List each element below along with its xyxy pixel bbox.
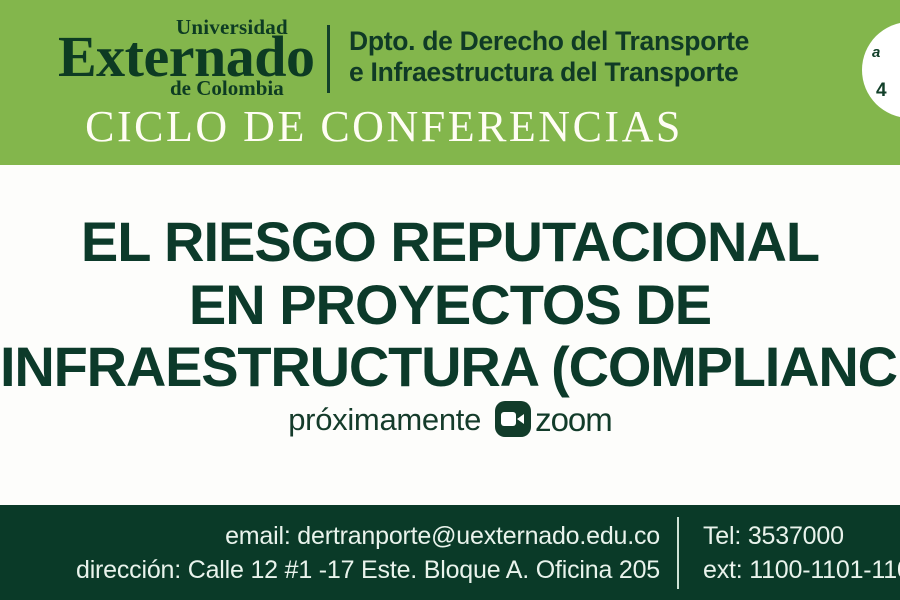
department-line-2: e Infraestructura del Transporte xyxy=(349,57,869,88)
contact-left-block: email: dertranporte@uexternado.edu.co di… xyxy=(0,520,660,588)
availability-label: próximamente xyxy=(288,404,481,435)
department-name: Dpto. de Derecho del Transporte e Infrae… xyxy=(349,26,869,88)
availability-row: próximamente zoom xyxy=(0,401,900,437)
title-line-1: EL RIESGO REPUTACIONAL xyxy=(0,211,900,274)
contact-right-block: Tel: 3537000 ext: 1100-1101-1102 xyxy=(703,520,900,588)
zoom-logo: zoom xyxy=(495,401,612,437)
title-line-2: EN PROYECTOS DE xyxy=(0,274,900,337)
conference-poster: Universidad Externado de Colombia Dpto. … xyxy=(0,0,900,600)
department-line-1: Dpto. de Derecho del Transporte xyxy=(349,26,869,57)
series-title: CICLO DE CONFERENCIAS xyxy=(0,103,900,151)
title-line-3: INFRAESTRUCTURA (COMPLIANCE) xyxy=(0,336,900,399)
contact-extensions: ext: 1100-1101-1102 xyxy=(703,554,900,588)
contact-email[interactable]: email: dertranporte@uexternado.edu.co xyxy=(0,520,660,554)
badge-line-2: 4 xyxy=(876,80,887,102)
header-vertical-divider xyxy=(327,25,330,93)
page-title: EL RIESGO REPUTACIONAL EN PROYECTOS DE I… xyxy=(0,211,900,399)
video-camera-icon xyxy=(495,401,531,437)
university-logo: Universidad Externado de Colombia xyxy=(58,15,310,95)
badge-line-1: a xyxy=(872,44,880,61)
header-band: Universidad Externado de Colombia Dpto. … xyxy=(0,0,900,165)
zoom-wordmark: zoom xyxy=(535,403,612,436)
footer-band: email: dertranporte@uexternado.edu.co di… xyxy=(0,505,900,600)
main-content: EL RIESGO REPUTACIONAL EN PROYECTOS DE I… xyxy=(0,165,900,505)
footer-vertical-divider xyxy=(677,517,679,589)
contact-address: dirección: Calle 12 #1 -17 Este. Bloque … xyxy=(0,554,660,588)
contact-phone: Tel: 3537000 xyxy=(703,520,900,554)
logo-de-colombia-text: de Colombia xyxy=(170,78,284,99)
